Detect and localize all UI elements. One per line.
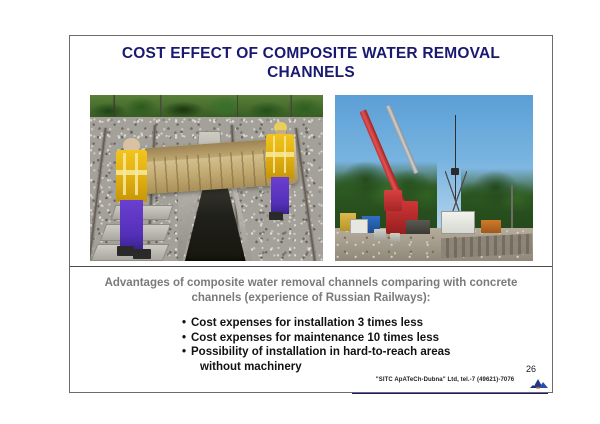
cable-drum-b: [390, 233, 400, 243]
worker-right-stripe-vertical-b: [284, 136, 287, 173]
worker-right-boot: [269, 212, 282, 220]
list-item-text: Possibility of installation in hard-to-r…: [191, 346, 450, 358]
utility-pole: [511, 185, 513, 228]
list-item: Possibility of installation in hard-to-r…: [182, 345, 522, 374]
worker-right: [262, 122, 304, 225]
cable-drum-a: [374, 229, 386, 241]
list-item-continuation: without machinery: [191, 360, 522, 375]
slide-number: 26: [526, 364, 536, 374]
page-title: COST EFFECT OF COMPOSITE WATER REMOVAL C…: [80, 44, 542, 82]
worker-left-boot-a: [117, 246, 134, 256]
worker-left: [110, 138, 159, 261]
advantages-list: Cost expenses for installation 3 times l…: [182, 316, 522, 374]
advantages-list-items: Cost expenses for installation 3 times l…: [182, 316, 522, 374]
photo-row: [75, 94, 547, 264]
worker-left-stripe-vertical-a: [123, 153, 126, 195]
photo-crane-construction-site: [334, 94, 534, 262]
worker-left-stripe-vertical-b: [135, 153, 138, 195]
orange-truck: [481, 220, 501, 233]
worker-right-stripe-vertical-a: [273, 136, 276, 173]
content-divider: [70, 266, 552, 267]
worker-left-jacket: [116, 150, 146, 202]
apatech-mountain-logo: [529, 378, 549, 390]
list-item: Cost expenses for maintenance 10 times l…: [182, 331, 522, 346]
slide-frame: COST EFFECT OF COMPOSITE WATER REMOVAL C…: [69, 35, 553, 393]
photo-workers-carrying-composite-channel: [89, 94, 324, 262]
worker-right-stripe-horizontal: [266, 152, 294, 157]
crane-cab: [384, 190, 402, 212]
crane-hook-block: [451, 168, 459, 175]
slide-canvas: COST EFFECT OF COMPOSITE WATER REMOVAL C…: [0, 0, 600, 424]
list-item: Cost expenses for installation 3 times l…: [182, 316, 522, 331]
worker-right-trousers: [271, 177, 289, 214]
dark-machinery: [406, 220, 430, 235]
subtitle-text: Advantages of composite water removal ch…: [90, 276, 532, 306]
worker-left-trousers: [120, 200, 143, 249]
white-site-block: [350, 219, 368, 234]
white-container: [441, 211, 475, 235]
footer-underline: [352, 383, 548, 394]
worker-left-stripe-horizontal: [116, 170, 146, 175]
worker-left-boot-b: [133, 249, 151, 259]
